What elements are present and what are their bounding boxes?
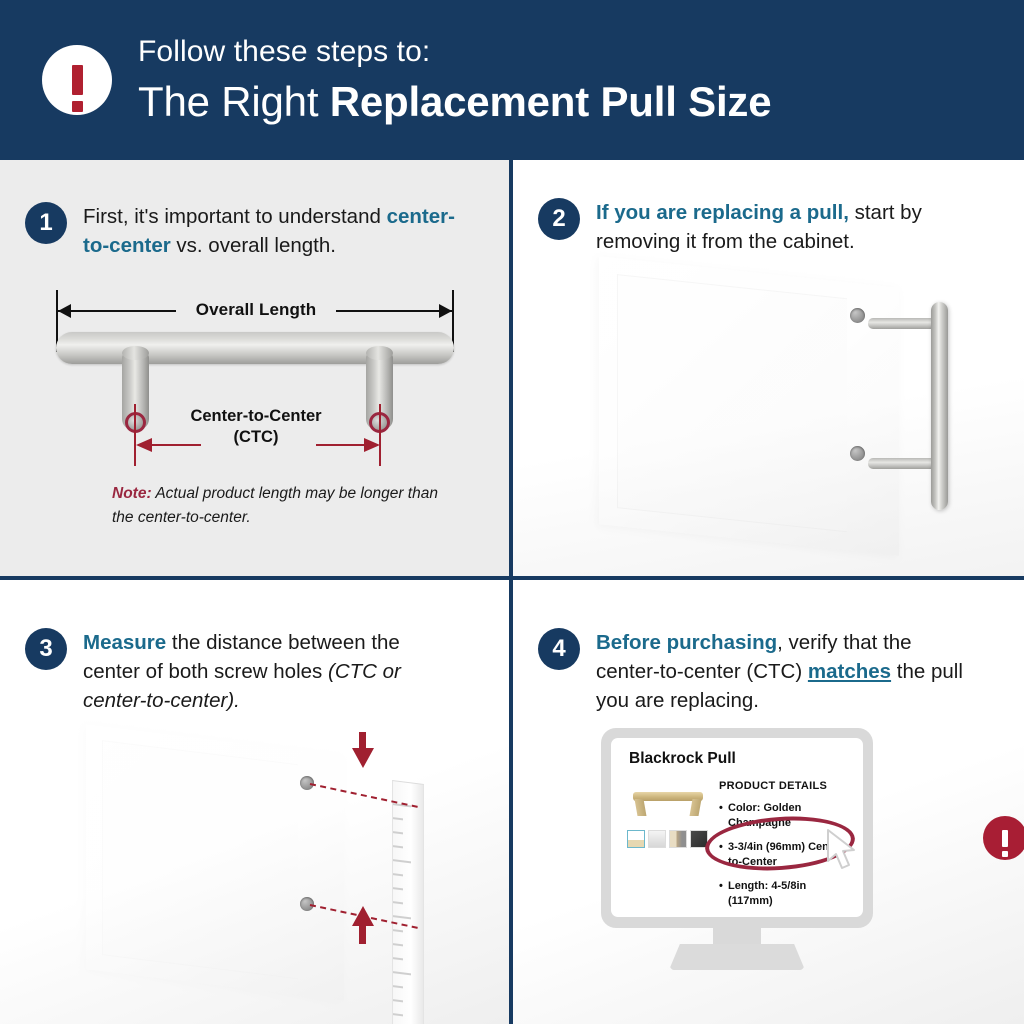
step-1-part-0: First, it's important to understand: [83, 205, 387, 228]
product-title: Blackrock Pull: [629, 750, 736, 768]
thumbnail-0-selected[interactable]: [627, 830, 645, 848]
step-1-part-2: vs. overall length.: [171, 234, 336, 257]
horizontal-divider: [0, 576, 1024, 580]
exclamation-circle-icon: [983, 816, 1024, 860]
step-3-text: Measure the distance between the center …: [83, 628, 455, 715]
step-panel-4: 4 Before purchasing, verify that the cen…: [513, 580, 1024, 1024]
step-4-header: 4 Before purchasing, verify that the cen…: [538, 628, 968, 715]
exclamation-mark-glyph: [1002, 830, 1008, 847]
infographic-page: Follow these steps to: The Right Replace…: [0, 0, 1024, 1024]
product-image: [629, 780, 707, 824]
arrow-up-icon: [352, 906, 374, 926]
monitor-screen: Blackrock Pull PRODUCT DETAILS: [611, 738, 863, 917]
vertical-divider: [509, 160, 513, 1024]
step-3-header: 3 Measure the distance between the cente…: [25, 628, 455, 715]
step-number-badge-2: 2: [538, 198, 580, 240]
bar-pull: [931, 302, 948, 510]
cabinet-door-inner-panel: [617, 274, 847, 532]
pull-bar: [56, 332, 454, 364]
bar-pull-diagram: Overall Length Center-to-Center(CTC): [46, 300, 466, 490]
step-panel-2: 2 If you are replacing a pull, start by …: [513, 160, 1024, 576]
cabinet-door: [86, 724, 344, 1001]
step-4-part-0: Before purchasing: [596, 631, 777, 654]
header-text-block: Follow these steps to: The Right Replace…: [138, 37, 771, 123]
step-2-text: If you are replacing a pull, start by re…: [596, 198, 968, 256]
exclamation-circle-icon: [42, 45, 112, 115]
note-text: Note: Actual product length may be longe…: [112, 482, 442, 529]
step-panel-3: 3 Measure the distance between the cente…: [0, 580, 509, 1024]
ctc-label: Center-to-Center(CTC): [106, 406, 406, 448]
gold-pull-foot-left: [635, 799, 647, 816]
ruler: [392, 780, 424, 1024]
steps-grid: 1 First, it's important to understand ce…: [0, 160, 1024, 1024]
page-title: The Right Replacement Pull Size: [138, 81, 771, 123]
note-body: Actual product length may be longer than…: [112, 485, 438, 526]
product-details-heading: PRODUCT DETAILS: [719, 780, 849, 792]
gold-pull-foot-right: [690, 799, 702, 816]
step-1-text: First, it's important to understand cent…: [83, 202, 455, 260]
title-regular: The Right: [138, 78, 330, 125]
cabinet-door-inner-panel: [102, 740, 298, 979]
step-2-part-0: If you are replacing a pull,: [596, 201, 849, 224]
overall-length-label: Overall Length: [46, 300, 466, 320]
arrow-down-icon: [352, 748, 374, 768]
ctc-label-line2: (CTC): [234, 428, 279, 446]
screw-hole-top: [850, 308, 865, 323]
thumbnail-2[interactable]: [669, 830, 687, 848]
header-kicker: Follow these steps to:: [138, 37, 771, 67]
monitor-base: [669, 944, 805, 970]
thumbnail-strip[interactable]: [627, 830, 708, 848]
step-number-badge-4: 4: [538, 628, 580, 670]
screw-hole-bottom: [850, 446, 865, 461]
step-2-header: 2 If you are replacing a pull, start by …: [538, 198, 968, 256]
mouse-pointer-icon: [826, 828, 860, 872]
step-number-badge-3: 3: [25, 628, 67, 670]
step-number-badge-1: 1: [25, 202, 67, 244]
header-banner: Follow these steps to: The Right Replace…: [0, 0, 1024, 160]
cabinet-door: [599, 256, 899, 556]
step-panel-1: 1 First, it's important to understand ce…: [0, 160, 509, 576]
monitor-product-page: Blackrock Pull PRODUCT DETAILS: [601, 728, 873, 928]
step-1-header: 1 First, it's important to understand ce…: [25, 202, 455, 260]
note-lead: Note:: [112, 485, 152, 502]
thumbnail-1[interactable]: [648, 830, 666, 848]
step-4-part-2: matches: [808, 660, 891, 683]
pull-leg-bottom: [868, 458, 936, 469]
monitor-neck: [713, 928, 761, 946]
product-detail-2: Length: 4-5/8in (117mm): [719, 879, 849, 908]
title-bold: Replacement Pull Size: [330, 78, 772, 125]
ctc-label-line1: Center-to-Center: [190, 407, 321, 425]
step-4-text: Before purchasing, verify that the cente…: [596, 628, 968, 715]
step-3-part-0: Measure: [83, 631, 166, 654]
pull-leg-top: [868, 318, 936, 329]
arrow-up-stem: [359, 926, 366, 944]
exclamation-mark-glyph: [72, 65, 83, 95]
